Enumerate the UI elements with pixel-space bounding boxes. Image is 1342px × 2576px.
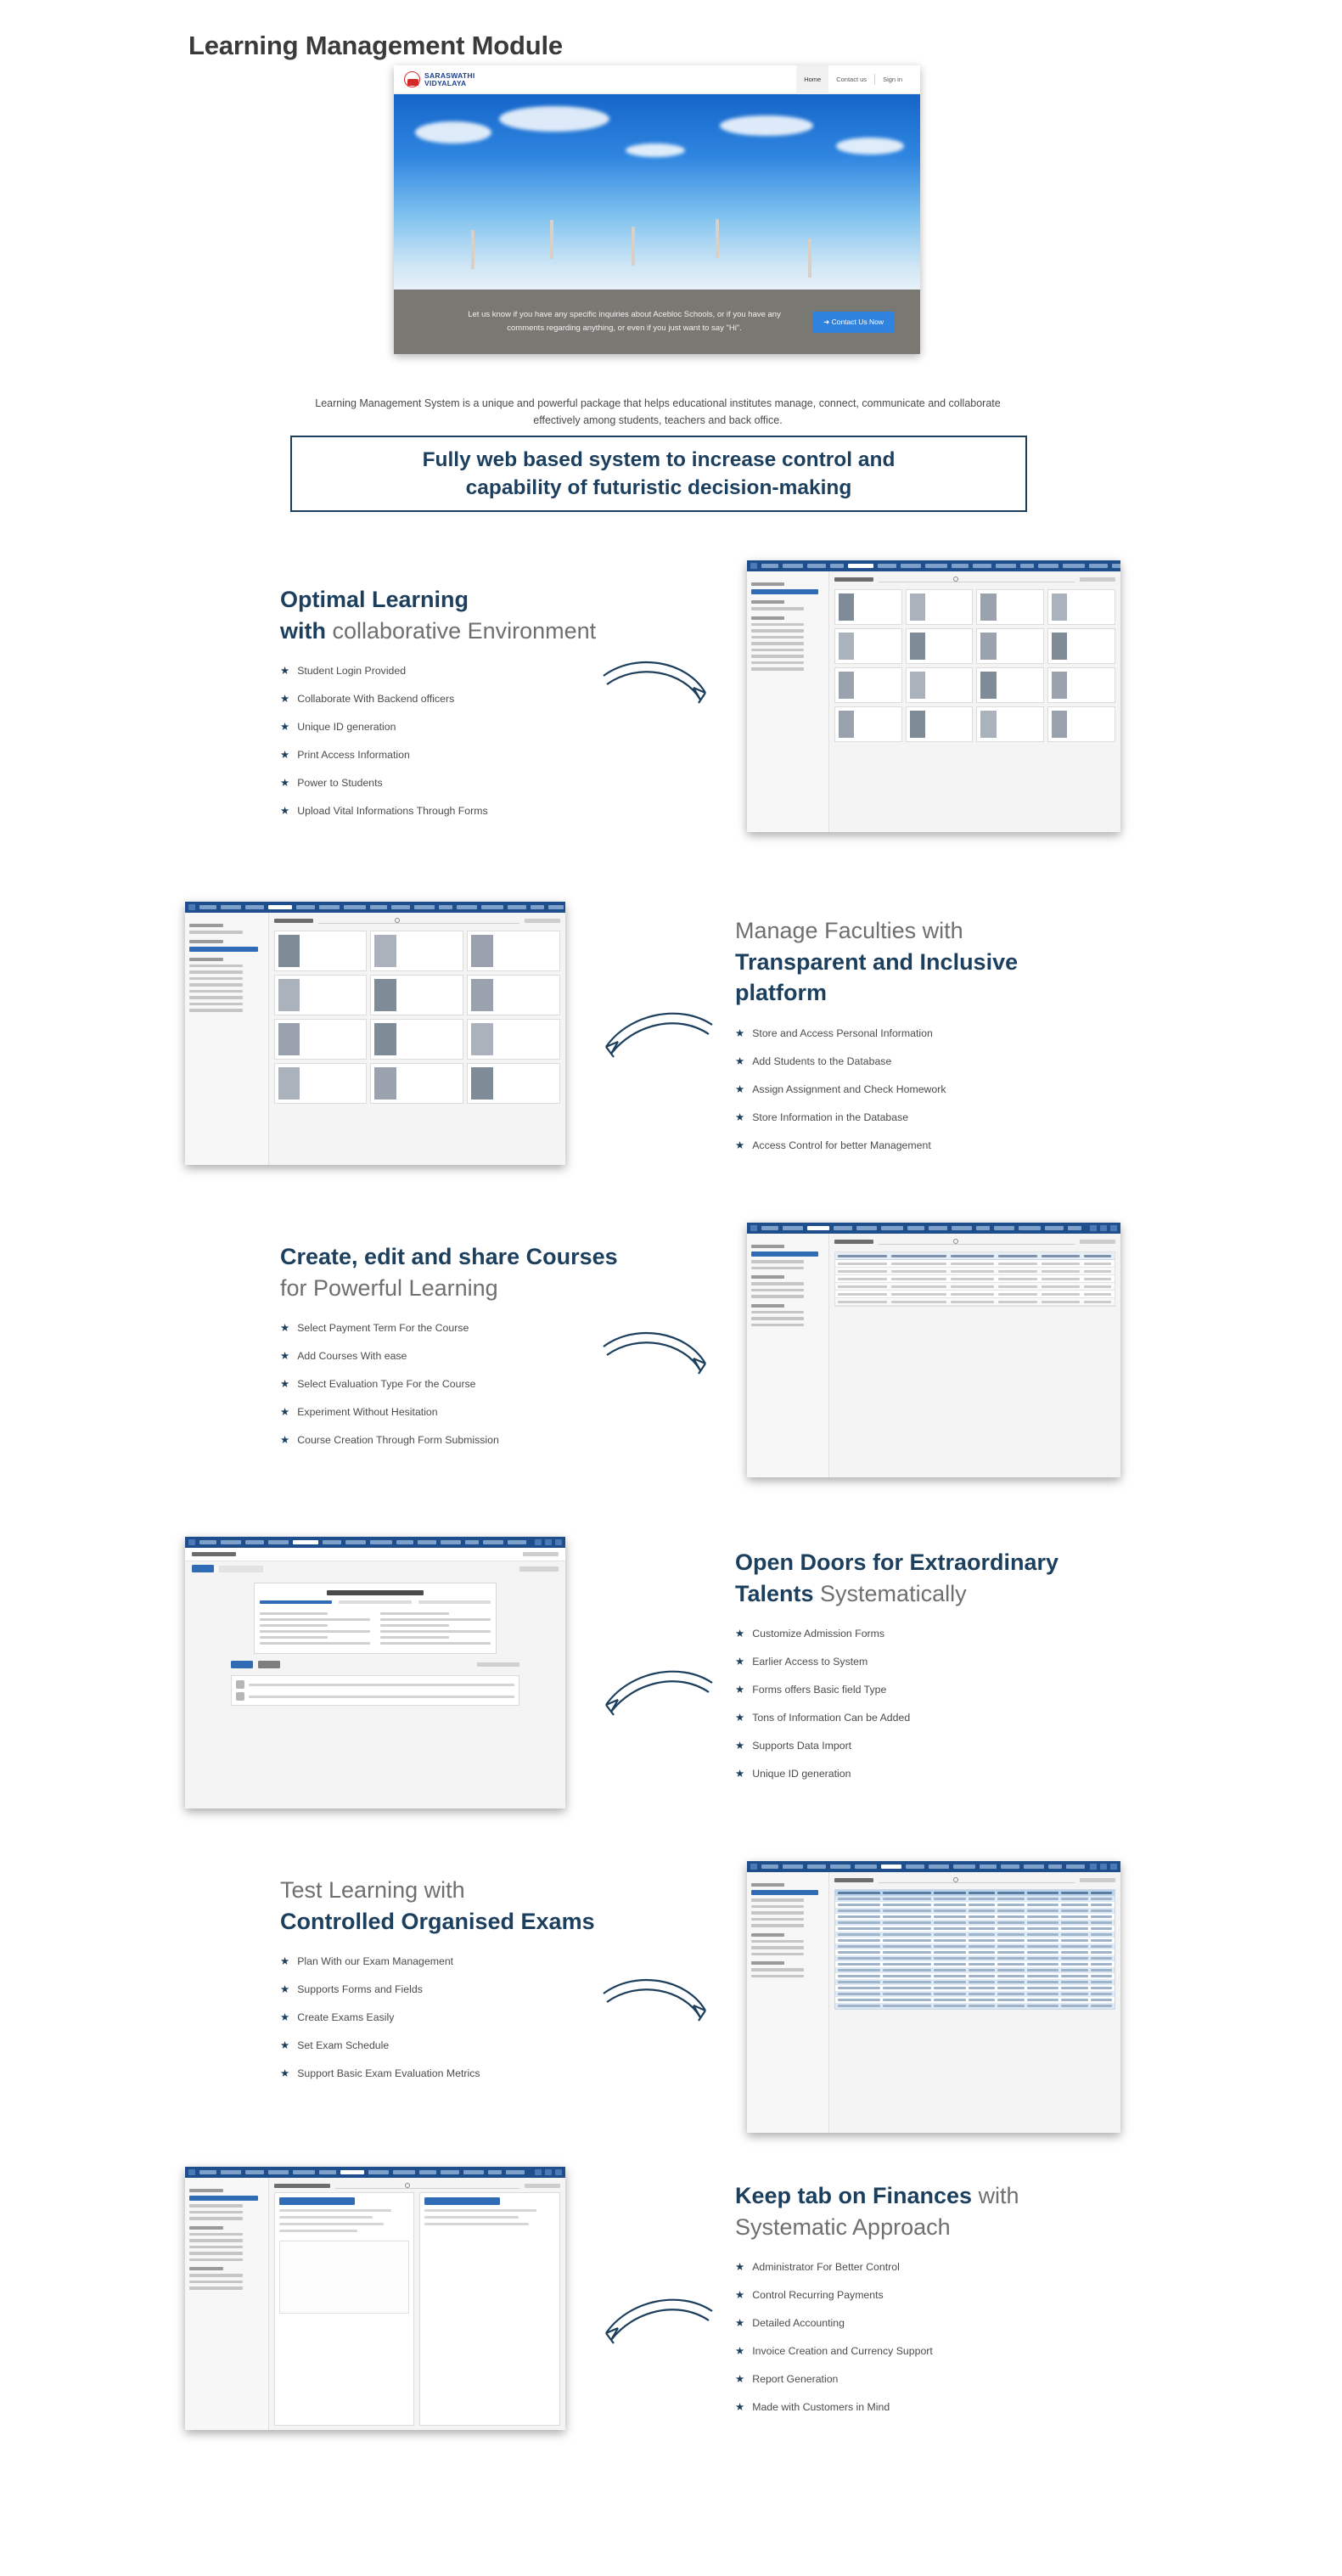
- table-row[interactable]: [835, 1298, 1115, 1306]
- star-icon: ★: [735, 1139, 744, 1151]
- bullet-label: Collaborate With Backend officers: [297, 693, 454, 706]
- star-icon: ★: [280, 2011, 289, 2023]
- arrow-right-5: [598, 1971, 717, 2048]
- bullet-label: Add Courses With ease: [297, 1350, 407, 1364]
- heading-bold-part: Transparent and Inclusive platform: [735, 949, 1018, 1006]
- table-row[interactable]: [835, 1268, 1115, 1275]
- star-icon: ★: [735, 1684, 744, 1696]
- bullet-label: Supports Forms and Fields: [297, 1983, 423, 1997]
- sidebar-item-selected[interactable]: [751, 589, 818, 594]
- arrow-left-2: [594, 1006, 717, 1087]
- star-icon: ★: [735, 2261, 744, 2273]
- intro-paragraph: Learning Management System is a unique a…: [301, 395, 1014, 430]
- search-input[interactable]: [335, 2182, 519, 2189]
- hero-cta-text: Let us know if you have any specific inq…: [419, 308, 795, 335]
- list-item: ★Supports Forms and Fields: [280, 1983, 620, 1997]
- table-row[interactable]: [835, 1949, 1115, 1955]
- app-sidebar[interactable]: [747, 1234, 829, 1477]
- hero-topbar: SARASWATHI VIDYALAYA Home Contact us Sig…: [394, 65, 920, 94]
- star-icon: ★: [735, 1628, 744, 1640]
- star-icon: ★: [280, 2067, 289, 2079]
- screenshot-exams-table: [747, 1861, 1120, 2133]
- list-item: ★Course Creation Through Form Submission: [280, 1434, 620, 1448]
- school-brand: SARASWATHI VIDYALAYA: [404, 71, 475, 87]
- star-icon: ★: [735, 2289, 744, 2301]
- settings-icon[interactable]: [545, 1539, 552, 1545]
- app-menu-icon[interactable]: [188, 904, 195, 910]
- bullet-label: Course Creation Through Form Submission: [297, 1434, 499, 1448]
- bullet-label: Supports Data Import: [752, 1740, 851, 1753]
- star-icon: ★: [280, 1322, 289, 1334]
- bullet-label: Store Information in the Database: [752, 1111, 908, 1125]
- list-item: ★Upload Vital Informations Through Forms: [280, 805, 637, 818]
- feature-section-admissions: Open Doors for Extraordinary Talents Sys…: [735, 1547, 1143, 1796]
- app-menu-icon[interactable]: [750, 1225, 757, 1231]
- star-icon: ★: [735, 1083, 744, 1095]
- bullet-label: Print Access Information: [297, 749, 410, 762]
- bullet-label: Tons of Information Can be Added: [752, 1712, 910, 1725]
- star-icon: ★: [735, 2317, 744, 2329]
- bullet-label: Forms offers Basic field Type: [752, 1684, 886, 1697]
- messages-icon[interactable]: [535, 2169, 542, 2175]
- page-title: Learning Management Module: [188, 31, 563, 61]
- table-row[interactable]: [835, 2003, 1115, 2009]
- hero-navigation[interactable]: Home Contact us Sign in: [796, 65, 910, 94]
- nav-link-home[interactable]: Home: [796, 65, 828, 94]
- settings-icon[interactable]: [545, 2169, 552, 2175]
- heading-regular-part: Systematically: [820, 1581, 967, 1606]
- heading-bold-part-2: with: [280, 618, 333, 644]
- bullet-label: Invoice Creation and Currency Support: [752, 2345, 933, 2359]
- arrow-right-1: [598, 654, 717, 730]
- app-navbar[interactable]: [747, 1861, 1120, 1872]
- search-input[interactable]: [879, 576, 1075, 582]
- star-icon: ★: [735, 2345, 744, 2357]
- hero-website-mockup: SARASWATHI VIDYALAYA Home Contact us Sig…: [394, 65, 920, 354]
- sidebar-item-selected[interactable]: [751, 1251, 818, 1257]
- star-icon: ★: [280, 1955, 289, 1967]
- star-icon: ★: [735, 1740, 744, 1752]
- bullet-label: Support Basic Exam Evaluation Metrics: [297, 2067, 480, 2081]
- feature-heading: Optimal Learning with collaborative Envi…: [280, 584, 637, 646]
- star-icon: ★: [280, 1378, 289, 1390]
- list-item: ★Report Generation: [735, 2373, 1126, 2387]
- list-item: ★Set Exam Schedule: [280, 2039, 620, 2053]
- list-item: ★Store Information in the Database: [735, 1111, 1109, 1125]
- table-row[interactable]: [835, 1896, 1115, 1902]
- exams-table[interactable]: [834, 1889, 1115, 2010]
- list-item: ★Collaborate With Backend officers: [280, 693, 637, 706]
- school-logo-icon: [404, 71, 420, 87]
- nav-link-contact-us[interactable]: Contact us: [828, 65, 874, 94]
- list-item: ★Create Exams Easily: [280, 2011, 620, 2025]
- star-icon: ★: [280, 2039, 289, 2051]
- sidebar-item-selected[interactable]: [189, 947, 258, 952]
- star-icon: ★: [280, 693, 289, 705]
- app-sidebar[interactable]: [185, 2178, 269, 2430]
- table-row[interactable]: [835, 1985, 1115, 1991]
- user-avatar[interactable]: [555, 1539, 562, 1545]
- feature-heading: Manage Faculties with Transparent and In…: [735, 915, 1109, 1009]
- star-icon: ★: [280, 1983, 289, 1995]
- app-navbar[interactable]: [747, 560, 1120, 571]
- heading-regular-part: for Powerful Learning: [280, 1275, 498, 1301]
- feature-bullet-list: ★Student Login Provided ★Collaborate Wit…: [280, 665, 637, 818]
- list-item: ★Support Basic Exam Evaluation Metrics: [280, 2067, 620, 2081]
- tagline-line-1: Fully web based system to increase contr…: [423, 448, 896, 471]
- list-item: ★Made with Customers in Mind: [735, 2401, 1126, 2415]
- app-sidebar[interactable]: [185, 913, 269, 1165]
- star-icon: ★: [735, 2401, 744, 2413]
- list-item: ★Power to Students: [280, 777, 637, 790]
- hero-cta-bar: Let us know if you have any specific inq…: [394, 290, 920, 354]
- list-item: ★Select Evaluation Type For the Course: [280, 1378, 620, 1392]
- list-item: ★Control Recurring Payments: [735, 2289, 1126, 2303]
- table-row[interactable]: [835, 1997, 1115, 2003]
- bullet-label: Experiment Without Hesitation: [297, 1406, 437, 1420]
- user-avatar[interactable]: [1110, 1225, 1117, 1231]
- bullet-label: Administrator For Better Control: [752, 2261, 900, 2275]
- tagline-line-2: capability of futuristic decision-making: [466, 476, 852, 499]
- table-row[interactable]: [835, 1967, 1115, 1973]
- feature-heading: Create, edit and share Courses for Power…: [280, 1241, 620, 1303]
- screenshot-admission-form: [185, 1537, 565, 1808]
- list-item: ★Invoice Creation and Currency Support: [735, 2345, 1126, 2359]
- star-icon: ★: [280, 1406, 289, 1418]
- arrow-right-3: [598, 1325, 717, 1401]
- table-row[interactable]: [835, 1914, 1115, 1920]
- table-row[interactable]: [835, 1932, 1115, 1938]
- bullet-label: Add Students to the Database: [752, 1055, 891, 1069]
- messages-icon[interactable]: [535, 1539, 542, 1545]
- table-row[interactable]: [835, 1943, 1115, 1949]
- bullet-label: Unique ID generation: [752, 1768, 851, 1781]
- pager[interactable]: [1080, 1240, 1115, 1244]
- star-icon: ★: [280, 805, 289, 817]
- pager[interactable]: [1080, 577, 1115, 582]
- search-input[interactable]: [879, 1876, 1075, 1883]
- bullet-label: Select Evaluation Type For the Course: [297, 1378, 475, 1392]
- list-item: ★Student Login Provided: [280, 665, 637, 678]
- star-icon: ★: [280, 749, 289, 761]
- bullet-label: Power to Students: [297, 777, 382, 790]
- table-header-row: [835, 1252, 1115, 1260]
- contact-us-now-button[interactable]: ➜ Contact Us Now: [812, 312, 895, 333]
- list-item: ★Earlier Access to System: [735, 1656, 1143, 1669]
- list-item: ★Plan With our Exam Management: [280, 1955, 620, 1969]
- star-icon: ★: [735, 1768, 744, 1780]
- bullet-label: Select Payment Term For the Course: [297, 1322, 469, 1336]
- feature-heading: Keep tab on Finances with Systematic App…: [735, 2180, 1126, 2242]
- bullet-label: Report Generation: [752, 2373, 838, 2387]
- feature-bullet-list: ★Select Payment Term For the Course ★Add…: [280, 1322, 620, 1448]
- form-title: [327, 1590, 424, 1595]
- app-navbar[interactable]: [185, 1537, 565, 1548]
- search-input[interactable]: [318, 917, 519, 924]
- cancel-button[interactable]: [258, 1661, 280, 1668]
- dashboard-card-left[interactable]: [274, 2192, 415, 2426]
- pager[interactable]: [525, 2184, 560, 2188]
- tagline-box: Fully web based system to increase contr…: [290, 436, 1027, 512]
- bullet-label: Student Login Provided: [297, 665, 406, 678]
- feature-section-finances: Keep tab on Finances with Systematic App…: [735, 2180, 1126, 2429]
- app-navbar[interactable]: [747, 1223, 1120, 1234]
- bullet-label: Detailed Accounting: [752, 2317, 845, 2331]
- star-icon: ★: [280, 1350, 289, 1362]
- settings-icon[interactable]: [1100, 1864, 1107, 1870]
- list-item: ★Assign Assignment and Check Homework: [735, 1083, 1109, 1097]
- table-row[interactable]: [835, 1260, 1115, 1268]
- pager[interactable]: [525, 919, 560, 923]
- list-item: ★Add Students to the Database: [735, 1055, 1109, 1069]
- list-item: ★Experiment Without Hesitation: [280, 1406, 620, 1420]
- table-row[interactable]: [835, 1291, 1115, 1298]
- list-item: ★Supports Data Import: [735, 1740, 1143, 1753]
- table-row[interactable]: [835, 1926, 1115, 1932]
- table-row[interactable]: [835, 1979, 1115, 1985]
- brand-line-2: VIDYALAYA: [424, 80, 475, 87]
- table-header-row: [835, 1890, 1115, 1896]
- table-row[interactable]: [835, 1938, 1115, 1943]
- bullet-label: Made with Customers in Mind: [752, 2401, 890, 2415]
- heading-bold-part: Optimal Learning: [280, 587, 469, 612]
- user-avatar[interactable]: [555, 2169, 562, 2175]
- app-menu-icon[interactable]: [188, 2169, 195, 2175]
- pager[interactable]: [523, 1552, 559, 1556]
- screenshot-faculties-kanban: [185, 902, 565, 1165]
- tagline-heading: Fully web based system to increase contr…: [423, 446, 896, 502]
- star-icon: ★: [735, 1656, 744, 1668]
- list-item: ★Administrator For Better Control: [735, 2261, 1126, 2275]
- create-button[interactable]: [192, 1565, 214, 1572]
- admission-form-card[interactable]: [254, 1583, 497, 1654]
- star-icon: ★: [735, 1111, 744, 1123]
- pager[interactable]: [1080, 1878, 1115, 1882]
- table-row[interactable]: [835, 1908, 1115, 1914]
- app-sidebar[interactable]: [747, 1872, 829, 2133]
- list-item: ★Unique ID generation: [735, 1768, 1143, 1781]
- table-row[interactable]: [835, 1902, 1115, 1908]
- feature-heading: Test Learning with Controlled Organised …: [280, 1875, 620, 1937]
- app-menu-icon[interactable]: [750, 1864, 757, 1870]
- screenshot-students-kanban: [747, 560, 1120, 832]
- feature-bullet-list: ★Plan With our Exam Management ★Supports…: [280, 1955, 620, 2081]
- bullet-label: Unique ID generation: [297, 721, 396, 734]
- heading-bold-part: Keep tab on Finances: [735, 2183, 979, 2208]
- sidebar-item-selected[interactable]: [189, 2196, 258, 2201]
- feature-section-manage-faculties: Manage Faculties with Transparent and In…: [735, 915, 1109, 1167]
- bullet-label: Plan With our Exam Management: [297, 1955, 453, 1969]
- list-item: ★Print Access Information: [280, 749, 637, 762]
- table-row[interactable]: [835, 1961, 1115, 1967]
- star-icon: ★: [280, 665, 289, 677]
- star-icon: ★: [280, 721, 289, 733]
- messages-icon[interactable]: [1090, 1225, 1097, 1231]
- feature-section-exams: Test Learning with Controlled Organised …: [280, 1875, 620, 2095]
- star-icon: ★: [280, 1434, 289, 1446]
- app-navbar[interactable]: [185, 2167, 565, 2178]
- bullet-label: Store and Access Personal Information: [752, 1027, 933, 1041]
- search-input[interactable]: [879, 1238, 1075, 1245]
- submit-button[interactable]: [231, 1661, 253, 1668]
- star-icon: ★: [735, 1027, 744, 1039]
- heading-regular-part: Manage Faculties with: [735, 918, 963, 943]
- star-icon: ★: [280, 777, 289, 789]
- heading-regular-part: collaborative Environment: [333, 618, 597, 644]
- bullet-label: Control Recurring Payments: [752, 2289, 883, 2303]
- list-item: ★Customize Admission Forms: [735, 1628, 1143, 1641]
- table-row[interactable]: [835, 1973, 1115, 1979]
- star-icon: ★: [735, 1712, 744, 1724]
- feature-bullet-list: ★Store and Access Personal Information ★…: [735, 1027, 1109, 1153]
- bullet-label: Upload Vital Informations Through Forms: [297, 805, 487, 818]
- list-item: ★Unique ID generation: [280, 721, 637, 734]
- star-icon: ★: [735, 2373, 744, 2385]
- bullet-label: Customize Admission Forms: [752, 1628, 884, 1641]
- bullet-label: Access Control for better Management: [752, 1139, 931, 1153]
- arrow-left-6: [594, 2292, 717, 2373]
- table-row[interactable]: [835, 1283, 1115, 1291]
- app-menu-icon[interactable]: [188, 1539, 195, 1545]
- feature-section-optimal-learning: Optimal Learning with collaborative Envi…: [280, 584, 637, 833]
- app-sidebar[interactable]: [747, 571, 829, 832]
- dashboard-card-right[interactable]: [419, 2192, 560, 2426]
- bullet-label: Create Exams Easily: [297, 2011, 394, 2025]
- table-row[interactable]: [835, 1991, 1115, 1997]
- screenshot-accounting-dashboard: [185, 2167, 565, 2430]
- table-row[interactable]: [835, 1275, 1115, 1283]
- feature-bullet-list: ★Customize Admission Forms ★Earlier Acce…: [735, 1628, 1143, 1781]
- list-item: ★Forms offers Basic field Type: [735, 1684, 1143, 1697]
- bullet-label: Set Exam Schedule: [297, 2039, 389, 2053]
- star-icon: ★: [735, 1055, 744, 1067]
- list-item: ★Store and Access Personal Information: [735, 1027, 1109, 1041]
- bullet-label: Earlier Access to System: [752, 1656, 868, 1669]
- list-item: ★Add Courses With ease: [280, 1350, 620, 1364]
- list-item: ★Detailed Accounting: [735, 2317, 1126, 2331]
- heading-regular-part: Test Learning with: [280, 1877, 465, 1903]
- arrow-left-4: [594, 1664, 717, 1745]
- list-item: ★Tons of Information Can be Added: [735, 1712, 1143, 1725]
- table-row[interactable]: [835, 1920, 1115, 1926]
- heading-bold-part: Controlled Organised Exams: [280, 1909, 595, 1934]
- feature-heading: Open Doors for Extraordinary Talents Sys…: [735, 1547, 1143, 1609]
- app-navbar[interactable]: [185, 902, 565, 913]
- courses-table[interactable]: [834, 1251, 1115, 1307]
- settings-icon[interactable]: [1100, 1225, 1107, 1231]
- list-item: ★Access Control for better Management: [735, 1139, 1109, 1153]
- screenshot-courses-list: [747, 1223, 1120, 1477]
- feature-section-create-courses: Create, edit and share Courses for Power…: [280, 1241, 620, 1462]
- list-item: ★Select Payment Term For the Course: [280, 1322, 620, 1336]
- nav-link-sign-in[interactable]: Sign in: [875, 65, 910, 94]
- hero-banner-image: [394, 94, 920, 290]
- app-menu-icon[interactable]: [750, 563, 757, 569]
- heading-bold-part: Create, edit and share Courses: [280, 1244, 618, 1269]
- bullet-label: Assign Assignment and Check Homework: [752, 1083, 946, 1097]
- messages-icon[interactable]: [1090, 1864, 1097, 1870]
- sidebar-item-selected[interactable]: [751, 1890, 818, 1895]
- table-row[interactable]: [835, 1955, 1115, 1961]
- user-avatar[interactable]: [1110, 1864, 1117, 1870]
- feature-bullet-list: ★Administrator For Better Control ★Contr…: [735, 2261, 1126, 2415]
